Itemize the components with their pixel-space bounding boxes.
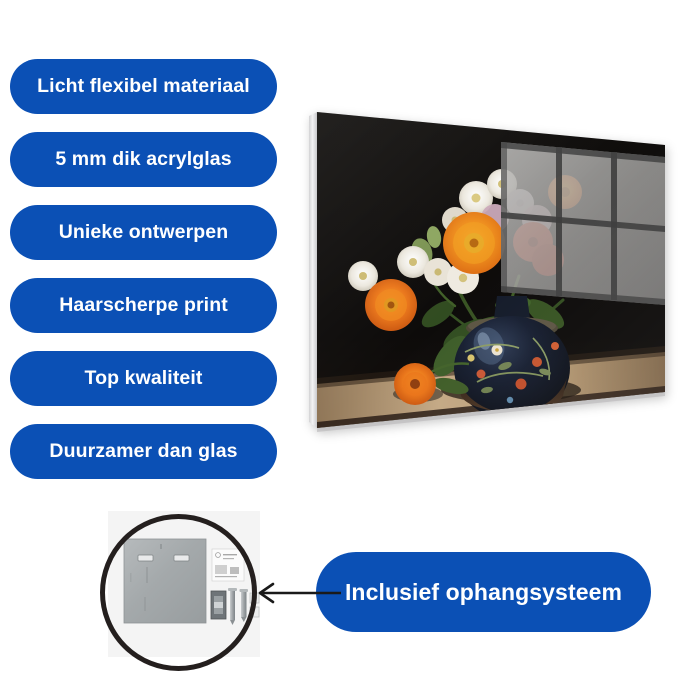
feature-badge-haarscherpe-print[interactable]: Haarscherpe print [10,278,277,333]
feature-badge-label: 5 mm dik acrylglas [55,148,231,171]
panel-gloss-sheen [317,112,665,428]
feature-badge-inclusief-ophangsysteem[interactable]: Inclusief ophangsysteem [316,552,651,632]
feature-badge-label: Duurzamer dan glas [49,440,237,463]
feature-badge-top-kwaliteit[interactable]: Top kwaliteit [10,351,277,406]
feature-badge-label: Top kwaliteit [85,367,203,390]
callout-badge-label: Inclusief ophangsysteem [345,579,622,606]
feature-badge-label: Haarscherpe print [59,294,228,317]
callout-arrow-icon [245,575,345,611]
product-feature-graphic: Licht flexibel materiaal 5 mm dik acrylg… [0,0,700,700]
acrylic-wall-art-panel [305,100,675,445]
panel-edge-thickness [309,112,317,428]
callout-circle-ring [100,514,257,671]
feature-badge-licht-flexibel-materiaal[interactable]: Licht flexibel materiaal [10,59,277,114]
feature-badge-label: Unieke ontwerpen [59,221,229,244]
mounting-kit-callout [100,514,257,671]
feature-badge-5-mm-dik-acrylglas[interactable]: 5 mm dik acrylglas [10,132,277,187]
feature-badge-unieke-ontwerpen[interactable]: Unieke ontwerpen [10,205,277,260]
feature-badge-duurzamer-dan-glas[interactable]: Duurzamer dan glas [10,424,277,479]
feature-badge-label: Licht flexibel materiaal [37,75,250,98]
